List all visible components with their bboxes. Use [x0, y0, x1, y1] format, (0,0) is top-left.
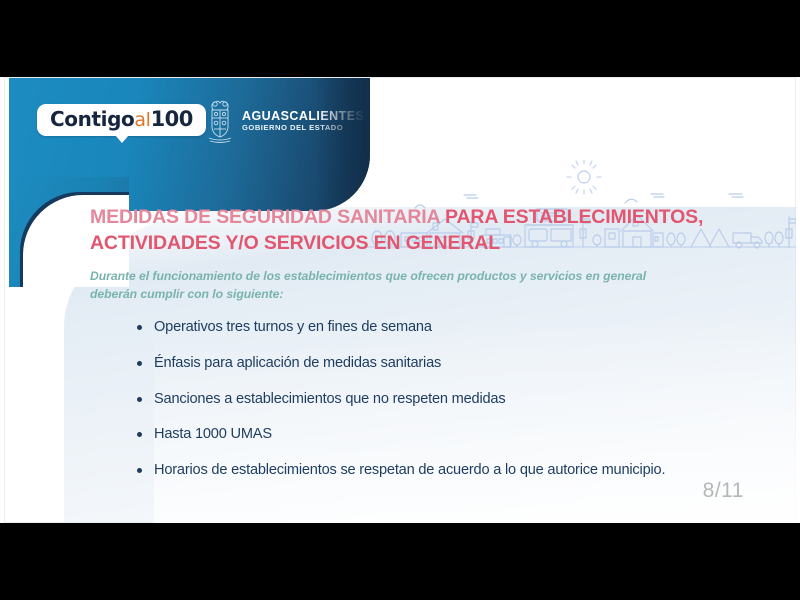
measures-list: Operativos tres turnos y en fines de sem…	[134, 319, 774, 498]
government-wordmark: AGUASCALIENTES GOBIERNO DEL ESTADO	[242, 110, 364, 132]
page-number: 8/11	[703, 479, 744, 503]
slide-title: MEDIDAS DE SEGURIDAD SANITARIA PARA ESTA…	[90, 205, 750, 256]
government-subtitle: GOBIERNO DEL ESTADO	[242, 124, 364, 132]
logo-text-contigo: Contigo	[50, 107, 134, 131]
coat-of-arms-icon	[205, 98, 235, 144]
contigo-al-100-logo: Contigoal100	[37, 104, 206, 136]
government-name: AGUASCALIENTES	[242, 110, 364, 123]
government-branding: AGUASCALIENTES GOBIERNO DEL ESTADO	[205, 98, 364, 144]
logo-text-100: 100	[151, 107, 193, 131]
list-item-label: Operativos tres turnos y en fines de sem…	[154, 319, 432, 335]
list-item-label: Horarios de establecimientos se respetan…	[154, 462, 665, 478]
list-item: Sanciones a establecimientos que no resp…	[134, 391, 774, 408]
slide-page-surface: Contigoal100	[4, 77, 796, 523]
presentation-slide: Contigoal100	[0, 77, 800, 523]
list-item: Hasta 1000 UMAS	[134, 426, 774, 443]
list-item-label: Hasta 1000 UMAS	[154, 426, 272, 442]
list-item-label: Énfasis para aplicación de medidas sanit…	[154, 355, 441, 371]
slide-viewer[interactable]: Contigoal100	[0, 0, 800, 600]
slide-title-light: MEDIDAS DE SEGURIDAD SANITARIA	[90, 206, 445, 228]
list-item-label: Sanciones a establecimientos que no resp…	[154, 391, 505, 407]
list-item: Operativos tres turnos y en fines de sem…	[134, 319, 774, 336]
list-item: Énfasis para aplicación de medidas sanit…	[134, 355, 774, 372]
list-item: Horarios de establecimientos se respetan…	[134, 462, 774, 479]
logo-text-al: al	[134, 109, 150, 131]
slide-subtitle: Durante el funcionamiento de los estable…	[90, 267, 650, 304]
